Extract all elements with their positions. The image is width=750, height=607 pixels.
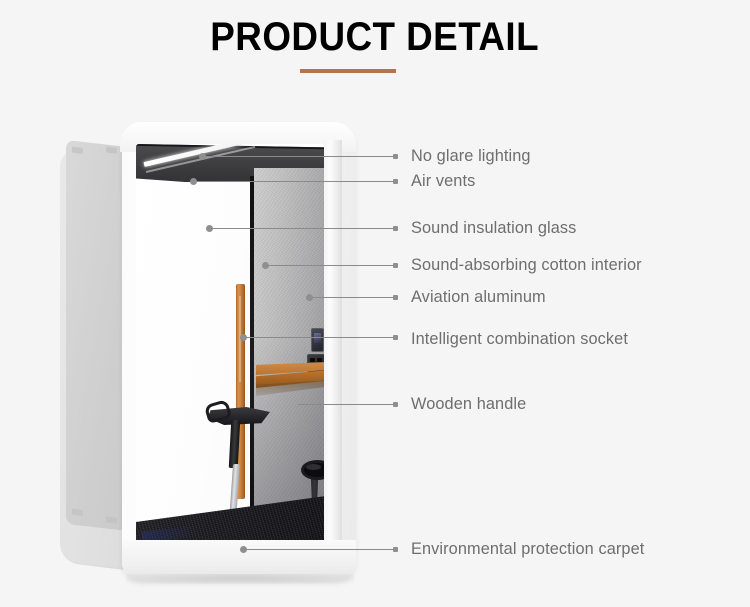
product-illustration xyxy=(58,122,358,582)
aviation-aluminum-pillar xyxy=(324,140,342,556)
trash-bin-rim xyxy=(301,460,326,480)
product-detail-page: PRODUCT DETAIL xyxy=(0,0,750,607)
leader-anchor-sound-insulation-glass xyxy=(206,225,213,232)
leader-endpoint-intelligent-combination-socket xyxy=(393,335,398,340)
leader-line-sound-absorbing-cotton-interior xyxy=(265,265,396,266)
leader-endpoint-sound-absorbing-cotton-interior xyxy=(393,263,398,268)
trash-bin-opening xyxy=(306,464,321,470)
air-vent-icon xyxy=(72,147,83,154)
callout-label-sound-absorbing-cotton-interior: Sound-absorbing cotton interior xyxy=(411,255,642,275)
leader-line-environmental-protection-carpet xyxy=(243,549,396,550)
air-vent-icon xyxy=(72,509,83,516)
air-vent-icon xyxy=(106,147,117,154)
leader-anchor-intelligent-combination-socket xyxy=(240,334,247,341)
leader-line-sound-insulation-glass xyxy=(209,228,396,229)
leader-anchor-air-vents xyxy=(190,178,197,185)
booth-side-inner-panel xyxy=(66,140,128,531)
callout-label-wooden-handle: Wooden handle xyxy=(411,394,526,414)
leader-anchor-aviation-aluminum xyxy=(306,294,313,301)
callout-label-environmental-protection-carpet: Environmental protection carpet xyxy=(411,539,644,559)
callout-label-air-vents: Air vents xyxy=(411,171,475,191)
leader-line-intelligent-combination-socket xyxy=(243,337,396,338)
callout-label-aviation-aluminum: Aviation aluminum xyxy=(411,287,546,307)
leader-line-aviation-aluminum xyxy=(309,297,396,298)
leader-line-air-vents xyxy=(193,181,396,182)
socket-hole xyxy=(317,358,322,362)
leader-line-no-glare-lighting xyxy=(202,156,396,157)
leader-anchor-sound-absorbing-cotton-interior xyxy=(262,262,269,269)
leader-endpoint-air-vents xyxy=(393,179,398,184)
leader-endpoint-no-glare-lighting xyxy=(393,154,398,159)
leader-line-wooden-handle xyxy=(298,404,396,405)
booth-interior xyxy=(136,144,326,554)
callout-label-sound-insulation-glass: Sound insulation glass xyxy=(411,218,576,238)
control-panel-screen xyxy=(314,333,321,343)
leader-endpoint-aviation-aluminum xyxy=(393,295,398,300)
leader-endpoint-sound-insulation-glass xyxy=(393,226,398,231)
leader-endpoint-environmental-protection-carpet xyxy=(393,547,398,552)
leader-anchor-no-glare-lighting xyxy=(199,153,206,160)
title-accent-bar xyxy=(300,69,396,73)
booth-ground-shadow xyxy=(126,574,354,584)
leader-anchor-environmental-protection-carpet xyxy=(240,546,247,553)
air-vent-icon xyxy=(106,517,117,524)
page-header: PRODUCT DETAIL xyxy=(0,14,750,60)
leader-endpoint-wooden-handle xyxy=(393,402,398,407)
socket-hole xyxy=(310,358,315,362)
callout-label-intelligent-combination-socket: Intelligent combination socket xyxy=(411,329,628,349)
page-title: PRODUCT DETAIL xyxy=(211,14,540,60)
wall-control-panel xyxy=(311,328,324,352)
callout-label-no-glare-lighting: No glare lighting xyxy=(411,146,531,166)
